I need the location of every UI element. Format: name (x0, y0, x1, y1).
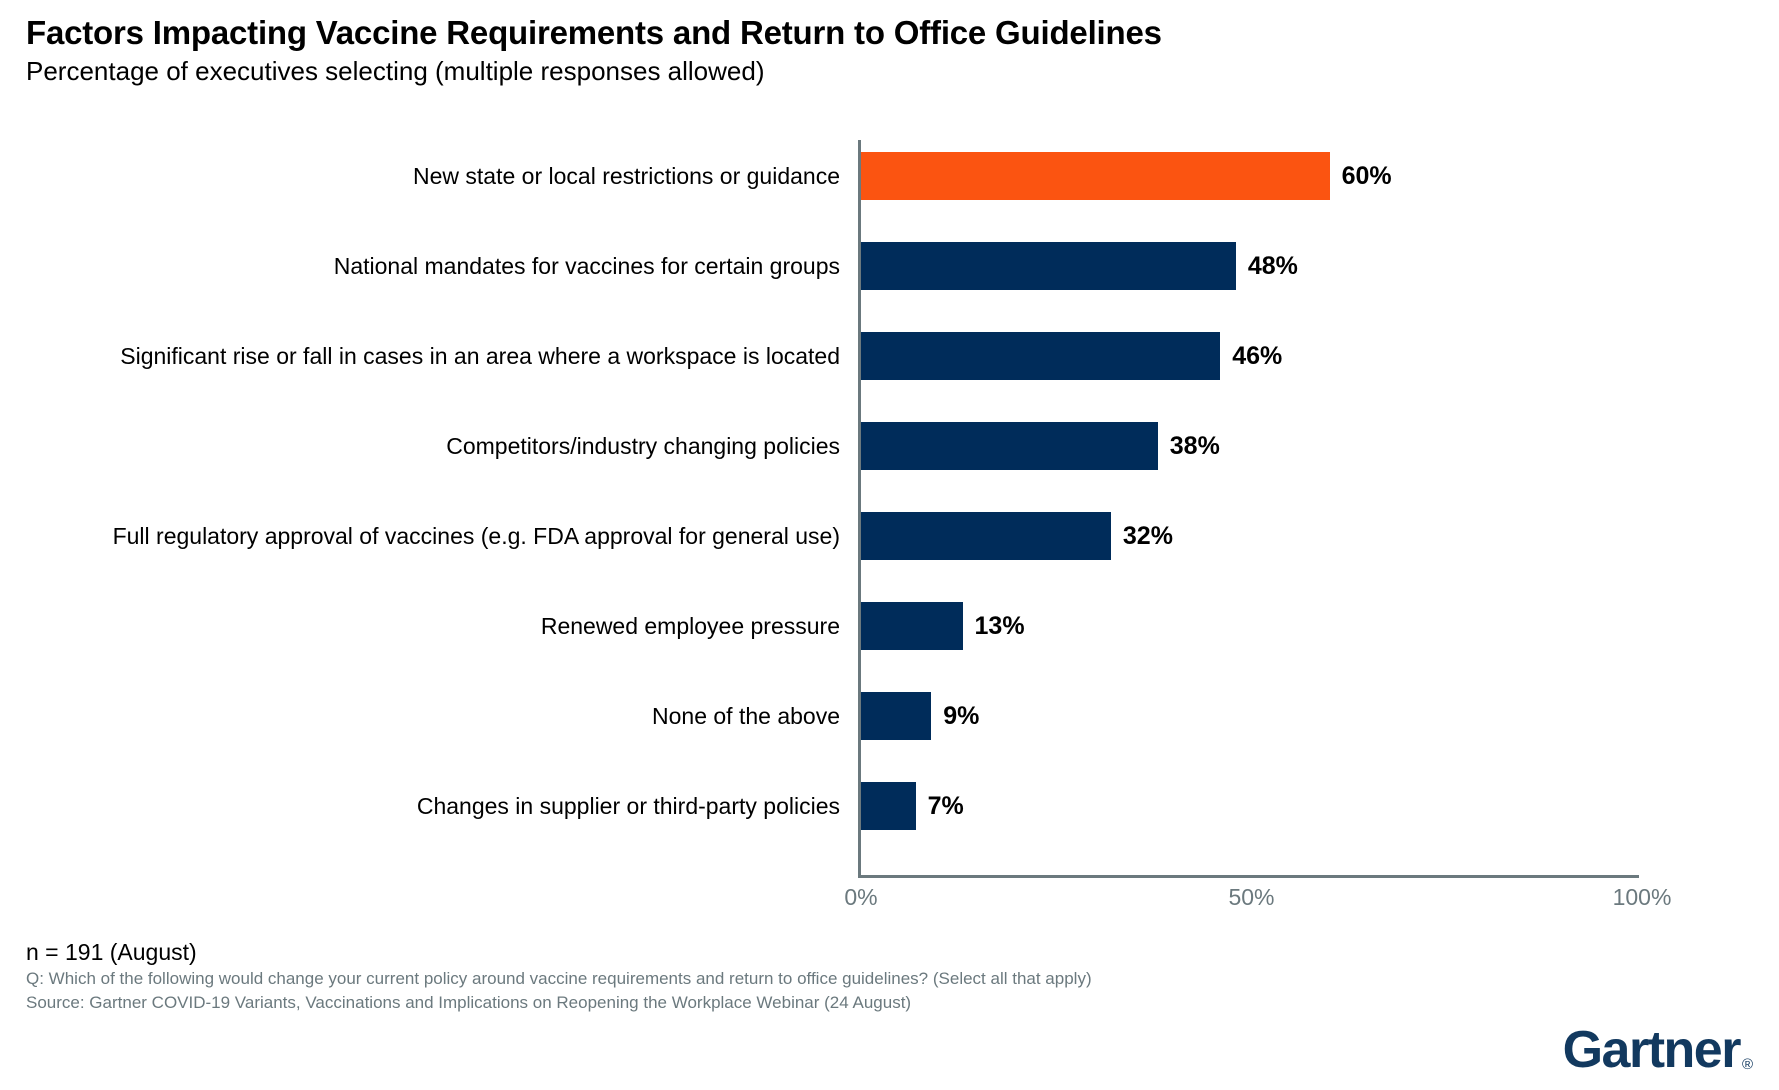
bar-row: 46% (861, 332, 1753, 380)
bar-value-label: 9% (943, 692, 979, 740)
gartner-logo-wordmark: Gartner (1563, 1024, 1740, 1076)
category-label-row: Renewed employee pressure (26, 602, 858, 650)
category-label: Competitors/industry changing policies (446, 422, 840, 470)
bar[interactable] (861, 602, 963, 650)
bar-row: 7% (861, 782, 1753, 830)
bar-value-label: 60% (1342, 152, 1392, 200)
question-note: Q: Which of the following would change y… (26, 967, 1526, 991)
bar-value-label: 13% (975, 602, 1025, 650)
category-label-row: Full regulatory approval of vaccines (e.… (26, 512, 858, 560)
bar[interactable] (861, 152, 1330, 200)
bar-row: 32% (861, 512, 1753, 560)
page-title: Factors Impacting Vaccine Requirements a… (26, 12, 1746, 54)
gartner-logo: Gartner ® (1563, 1024, 1753, 1076)
footnotes: n = 191 (August) Q: Which of the followi… (26, 937, 1526, 1015)
category-label: New state or local restrictions or guida… (413, 152, 840, 200)
category-axis-labels: New state or local restrictions or guida… (26, 140, 858, 878)
chart-header: Factors Impacting Vaccine Requirements a… (26, 12, 1746, 88)
category-label-row: New state or local restrictions or guida… (26, 152, 858, 200)
category-label: National mandates for vaccines for certa… (334, 242, 840, 290)
bar[interactable] (861, 512, 1111, 560)
bar-value-label: 7% (928, 782, 964, 830)
category-label-row: Changes in supplier or third-party polic… (26, 782, 858, 830)
registered-trademark-icon: ® (1742, 1057, 1753, 1072)
bar[interactable] (861, 242, 1236, 290)
bar-row: 38% (861, 422, 1753, 470)
category-label-row: None of the above (26, 692, 858, 740)
page-subtitle: Percentage of executives selecting (mult… (26, 54, 1746, 88)
bar-row: 48% (861, 242, 1753, 290)
chart-plot-area: New state or local restrictions or guida… (26, 140, 1753, 900)
x-axis-tick-label: 50% (1228, 884, 1274, 911)
bar-value-label: 48% (1248, 242, 1298, 290)
bar-row: 9% (861, 692, 1753, 740)
category-label: Significant rise or fall in cases in an … (120, 332, 840, 380)
category-label: Full regulatory approval of vaccines (e.… (113, 512, 840, 560)
x-axis-tick-label: 100% (1613, 884, 1672, 911)
bar[interactable] (861, 692, 931, 740)
bar-row: 60% (861, 152, 1753, 200)
bar-value-label: 46% (1232, 332, 1282, 380)
bar[interactable] (861, 422, 1158, 470)
x-axis-tick-label: 0% (844, 884, 877, 911)
bar[interactable] (861, 782, 916, 830)
x-axis-ticks: 0%50%100% (858, 884, 1753, 918)
bar-row: 13% (861, 602, 1753, 650)
category-label: None of the above (652, 692, 840, 740)
category-label-row: Significant rise or fall in cases in an … (26, 332, 858, 380)
bar[interactable] (861, 332, 1220, 380)
category-label-row: Competitors/industry changing policies (26, 422, 858, 470)
sample-size-note: n = 191 (August) (26, 937, 1526, 967)
bar-value-label: 38% (1170, 422, 1220, 470)
category-label-row: National mandates for vaccines for certa… (26, 242, 858, 290)
category-label: Renewed employee pressure (541, 602, 840, 650)
category-label: Changes in supplier or third-party polic… (417, 782, 840, 830)
bar-value-label: 32% (1123, 512, 1173, 560)
bars-region: 60%48%46%38%32%13%9%7% (858, 140, 1753, 878)
source-note: Source: Gartner COVID-19 Variants, Vacci… (26, 991, 1526, 1015)
